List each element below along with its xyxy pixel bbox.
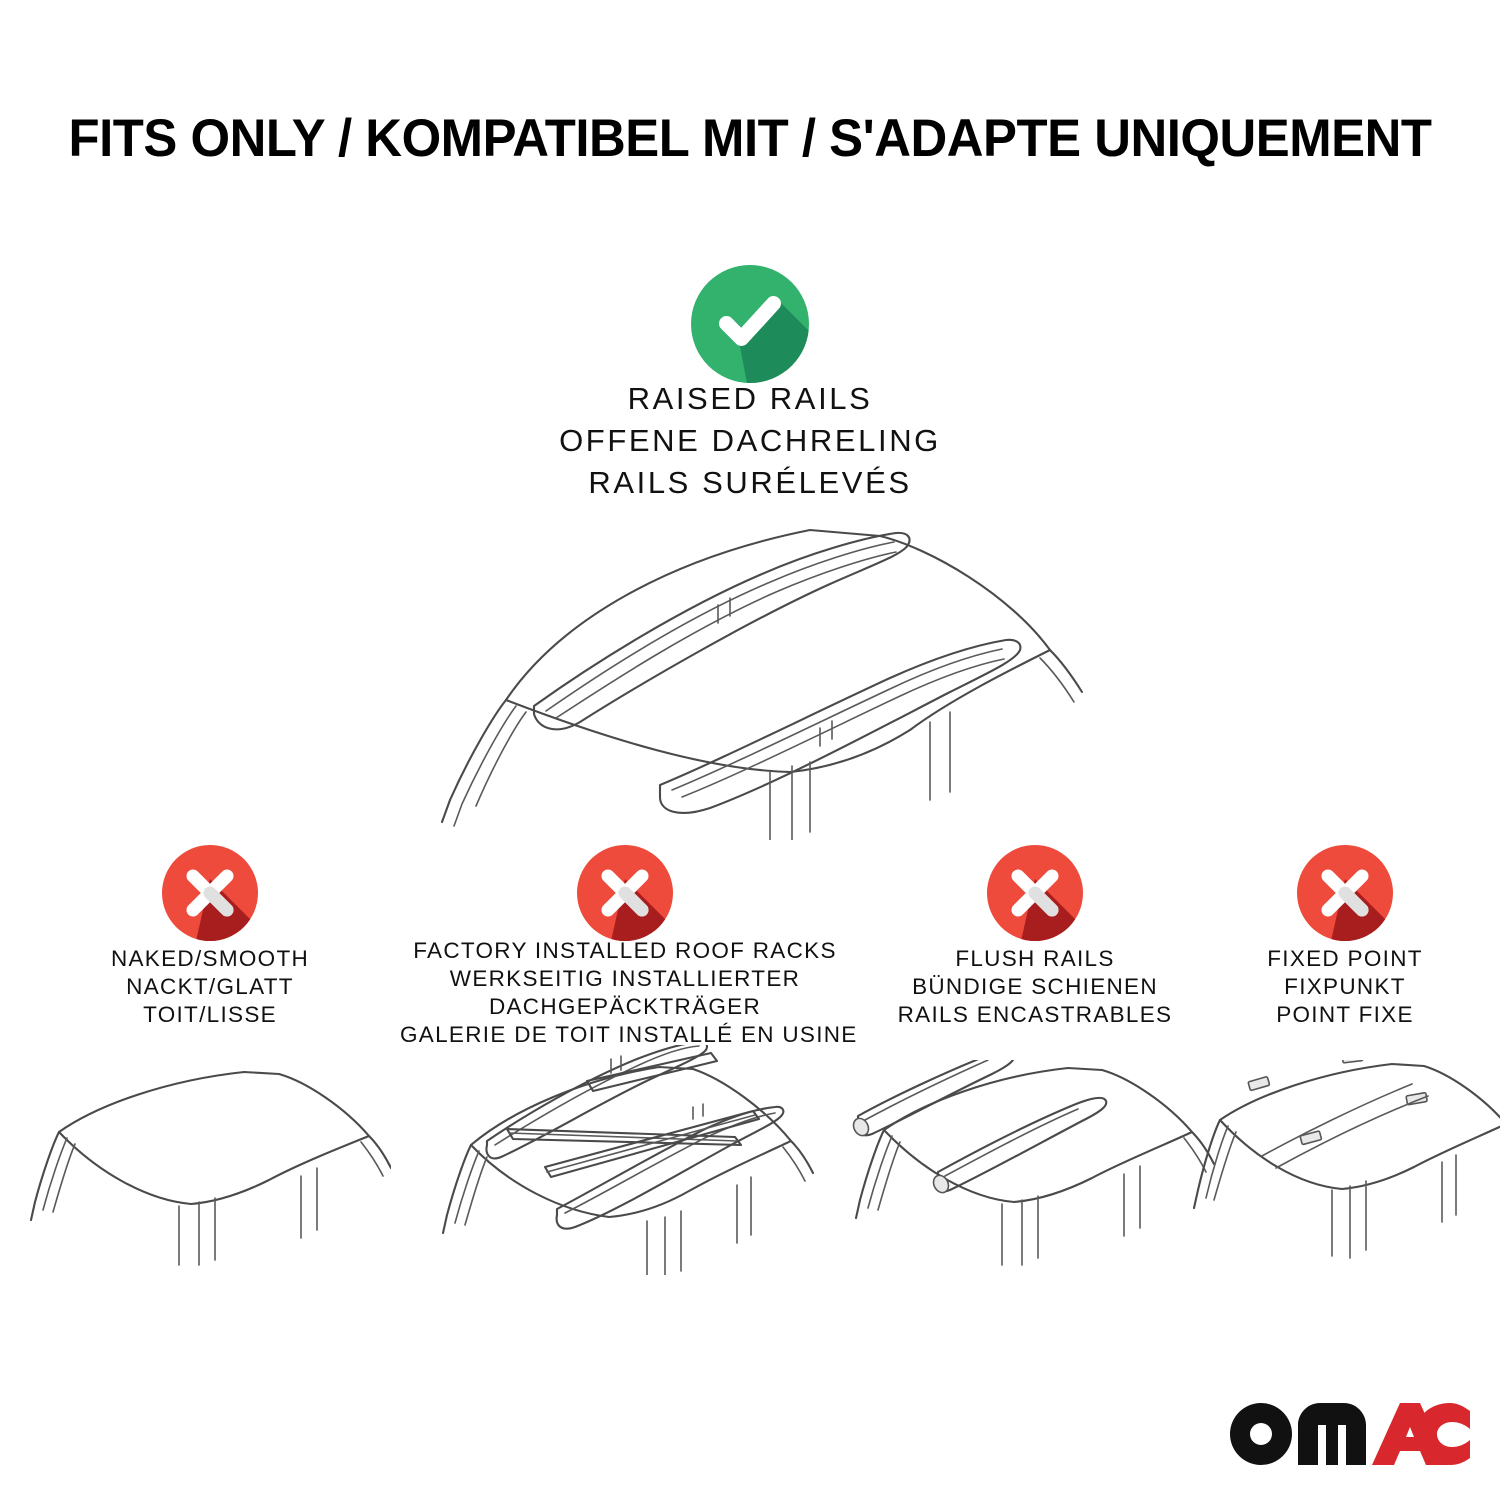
rejected-label-group-2: FACTORY INSTALLED ROOF RACKS WERKSEITIG … bbox=[400, 937, 850, 1049]
rejected-label-4-line-3: POINT FIXE bbox=[1200, 1001, 1490, 1029]
rejected-label-4-line-2: FIXPUNKT bbox=[1200, 973, 1490, 1001]
omac-logo bbox=[1230, 1403, 1470, 1465]
car-roof-fixed-point-illustration bbox=[1192, 1060, 1500, 1275]
approved-label-group: RAISED RAILS OFFENE DACHRELING RAILS SUR… bbox=[0, 378, 1500, 504]
rejected-label-group-3: FLUSH RAILS BÜNDIGE SCHIENEN RAILS ENCAS… bbox=[845, 945, 1225, 1029]
rejected-label-2-line-2: WERKSEITIG INSTALLIERTER bbox=[400, 965, 850, 993]
approved-label-line-1: RAISED RAILS bbox=[0, 378, 1500, 420]
car-roof-flush-rails-illustration bbox=[850, 1060, 1225, 1275]
rejected-label-3-line-2: BÜNDIGE SCHIENEN bbox=[845, 973, 1225, 1001]
rejected-label-4-line-1: FIXED POINT bbox=[1200, 945, 1490, 973]
rejected-label-2-line-1: FACTORY INSTALLED ROOF RACKS bbox=[400, 937, 850, 965]
rejected-label-2-line-3: DACHGEPÄCKTRÄGER bbox=[400, 993, 850, 1021]
x-circle-icon bbox=[162, 845, 258, 941]
approved-label-line-2: OFFENE DACHRELING bbox=[0, 420, 1500, 462]
x-circle-icon bbox=[1297, 845, 1393, 941]
rejected-label-3-line-3: RAILS ENCASTRABLES bbox=[845, 1001, 1225, 1029]
approved-label-line-3: RAILS SURÉLEVÉS bbox=[0, 462, 1500, 504]
x-circle-icon bbox=[987, 845, 1083, 941]
car-roof-with-raised-rails-illustration bbox=[410, 500, 1090, 840]
rejected-label-group-1: NAKED/SMOOTH NACKT/GLATT TOIT/LISSE bbox=[15, 945, 405, 1029]
rejected-label-1-line-1: NAKED/SMOOTH bbox=[15, 945, 405, 973]
x-circle-icon bbox=[577, 845, 673, 941]
rejected-label-3-line-1: FLUSH RAILS bbox=[845, 945, 1225, 973]
check-circle-icon bbox=[691, 265, 809, 383]
rejected-label-group-4: FIXED POINT FIXPUNKT POINT FIXE bbox=[1200, 945, 1490, 1029]
rejected-label-1-line-2: NACKT/GLATT bbox=[15, 973, 405, 1001]
rejected-label-1-line-3: TOIT/LISSE bbox=[15, 1001, 405, 1029]
car-roof-factory-installed-racks-illustration bbox=[435, 1045, 815, 1275]
compatibility-infographic: FITS ONLY / KOMPATIBEL MIT / S'ADAPTE UN… bbox=[0, 0, 1500, 1500]
car-roof-naked-smooth-illustration bbox=[29, 1060, 391, 1275]
page-title: FITS ONLY / KOMPATIBEL MIT / S'ADAPTE UN… bbox=[30, 108, 1470, 169]
